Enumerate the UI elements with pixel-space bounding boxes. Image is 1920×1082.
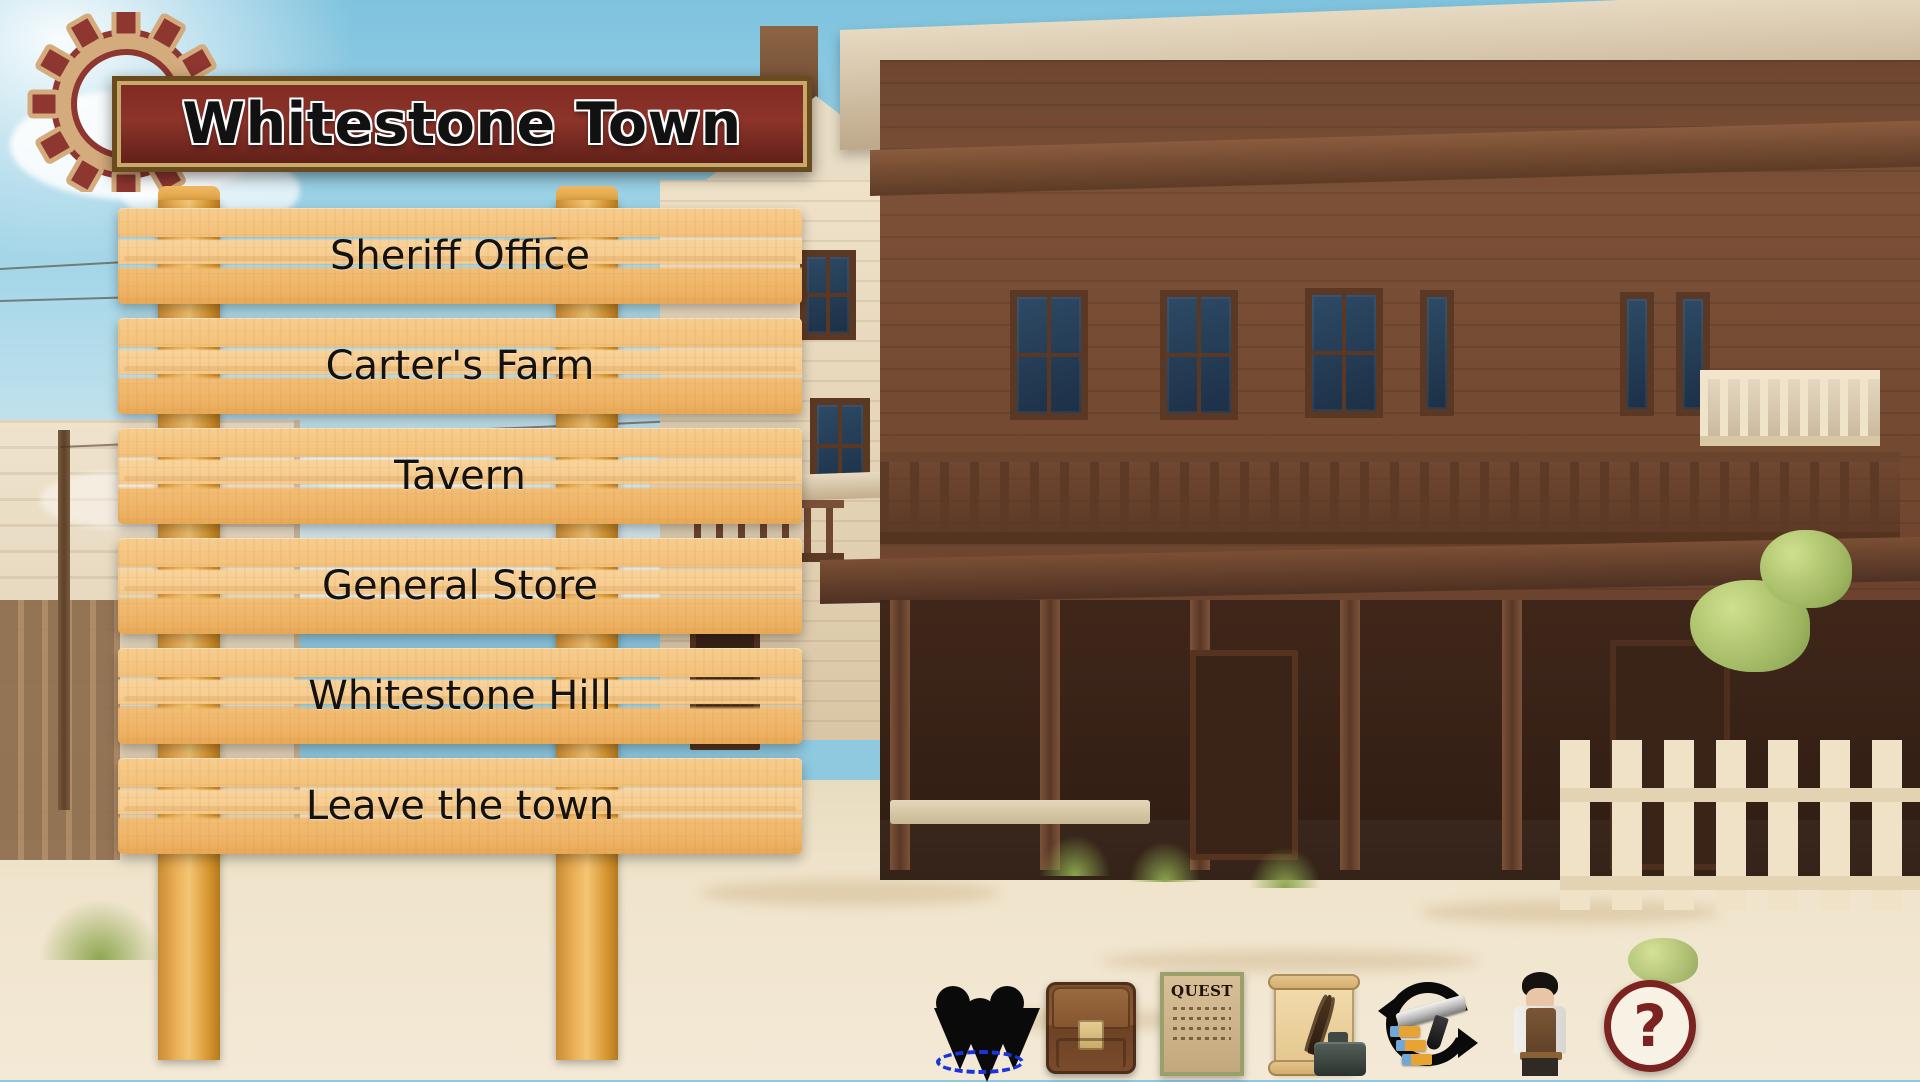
menu-item-sheriff-office[interactable]: Sheriff Office [118, 208, 802, 304]
window [800, 250, 856, 340]
help-glyph: ? [1633, 997, 1667, 1055]
page-title: Whitestone Town [182, 91, 742, 157]
briefcase-icon [1046, 982, 1136, 1074]
bullet-icon [1390, 1026, 1420, 1037]
menu-item-label: Leave the town [306, 783, 614, 829]
saloon-door [1190, 650, 1298, 860]
bush [1760, 530, 1852, 608]
ground-patch [700, 880, 1000, 906]
party-icon [930, 978, 1030, 1076]
character-avatar [1500, 972, 1580, 1076]
menu-item-label: Carter's Farm [326, 343, 595, 389]
scroll-quill-icon [1266, 972, 1362, 1076]
help-icon: ? [1604, 980, 1696, 1072]
porch-post [1040, 600, 1060, 870]
menu-item-leave-the-town[interactable]: Leave the town [118, 758, 802, 854]
quest-poster-icon: QUEST [1160, 972, 1244, 1076]
menu-item-label: Sheriff Office [330, 233, 590, 279]
bullet-icon [1402, 1054, 1432, 1065]
grass [1130, 842, 1200, 882]
menu-item-carters-farm[interactable]: Carter's Farm [118, 318, 802, 414]
party-button[interactable] [930, 972, 1026, 1076]
grass [1040, 836, 1110, 876]
grass [40, 900, 160, 960]
menu-item-tavern[interactable]: Tavern [118, 428, 802, 524]
fence-rail [1560, 876, 1920, 890]
quest-button[interactable]: QUEST [1154, 972, 1250, 1076]
menu-item-general-store[interactable]: General Store [118, 538, 802, 634]
window [1010, 290, 1088, 420]
reload-button[interactable] [1378, 972, 1474, 1076]
balcony-railing [880, 452, 1900, 544]
bottom-toolbar: QUEST [930, 964, 1698, 1076]
porch-post [1502, 600, 1522, 870]
journal-button[interactable] [1266, 972, 1362, 1076]
porch-post [890, 600, 910, 870]
reload-icon [1378, 974, 1478, 1076]
balcony-right [1700, 370, 1880, 446]
menu-item-label: Tavern [394, 453, 526, 499]
window [1420, 290, 1454, 416]
character-button[interactable] [1490, 972, 1586, 1076]
inkwell-icon [1314, 1042, 1366, 1076]
porch-post [1340, 600, 1360, 870]
menu-item-label: General Store [322, 563, 598, 609]
utility-pole [58, 430, 70, 810]
window [1620, 292, 1654, 416]
bullet-icon [1396, 1040, 1426, 1051]
help-button[interactable]: ? [1602, 972, 1698, 1076]
selection-ring [936, 1050, 1024, 1074]
window [1160, 290, 1238, 420]
grass [1250, 848, 1320, 888]
menu-item-whitestone-hill[interactable]: Whitestone Hill [118, 648, 802, 744]
window [1305, 288, 1383, 418]
quest-poster-title: QUEST [1171, 982, 1233, 1000]
page-title-banner: Whitestone Town [112, 76, 812, 172]
fence-rail [1560, 788, 1920, 802]
porch-step [890, 800, 1150, 824]
menu-item-label: Whitestone Hill [308, 673, 611, 719]
inventory-button[interactable] [1042, 972, 1138, 1076]
